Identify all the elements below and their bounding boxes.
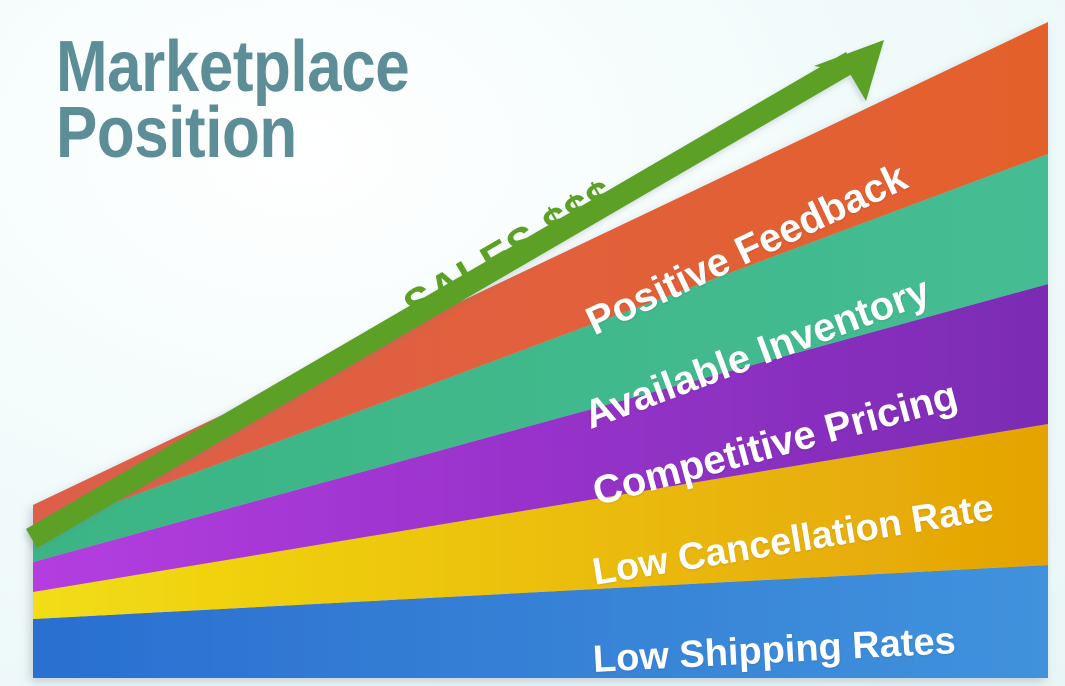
- marketplace-position-chart: [0, 0, 1065, 686]
- infographic-canvas: Marketplace Position SALES $$$ Positive …: [0, 0, 1065, 686]
